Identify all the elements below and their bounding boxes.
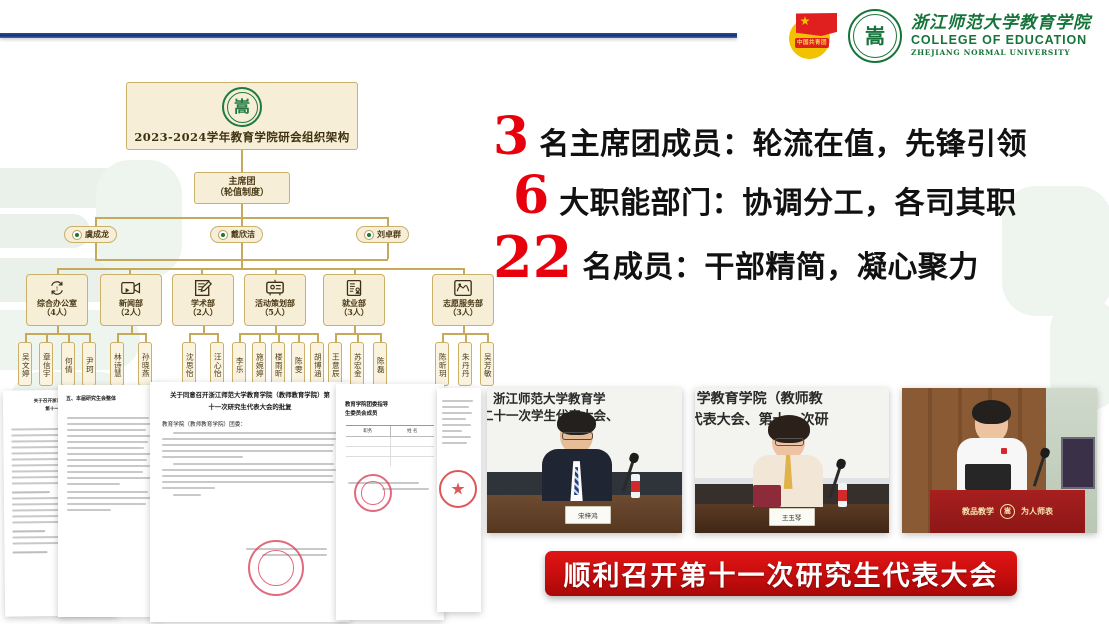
connector-d3-m1 — [189, 333, 191, 342]
member-chip: 朱丹丹 — [458, 342, 472, 386]
official-round-stamp-icon — [248, 540, 304, 596]
headline-row-2: 6 大职能部门：协调分工，各司其职 — [487, 171, 1097, 220]
photo1-speaker — [542, 415, 612, 501]
photo1-banner-line1: 浙江师范大学教育学 — [493, 391, 678, 407]
connector-d2-bus — [117, 333, 145, 335]
slide-canvas: 中国共青团 嵩 浙江师范大学教育学院 COLLEGE OF EDUCATION … — [0, 0, 1109, 624]
resume-document-icon — [344, 279, 364, 297]
headline-stats-block: 3 名主席团成员：轮流在值，先锋引领 6 大职能部门：协调分工，各司其职 22 … — [487, 112, 1097, 327]
photo3-badge-icon — [1001, 448, 1007, 454]
connector-d1-m4 — [89, 333, 91, 342]
photo1-nameplate: 宋梓鸿 — [565, 506, 611, 524]
document-center-title-line1: 关于同意召开浙江师范大学教育学院（教师教育学院）第 — [160, 391, 340, 400]
document-center-approval: 关于同意召开浙江师范大学教育学院（教师教育学院）第 十一次研究生代表大会的批复 … — [150, 382, 350, 622]
presidium-member-2: 戴欣洁 — [210, 226, 263, 243]
photo1-water-bottle — [631, 474, 640, 498]
connector-d1-m1 — [25, 333, 27, 342]
photo3-laptop — [965, 464, 1011, 490]
connector-d2-m1 — [117, 333, 119, 342]
conference-photo-strip: 浙江师范大学教育学 二十一次学生代表大会、 宋梓鸿 — [487, 388, 1097, 536]
headline-2-number: 6 — [513, 171, 549, 220]
department-3-count: （2人） — [188, 308, 218, 318]
connector-d4-m3 — [278, 333, 280, 342]
connector-d6-down — [463, 326, 465, 333]
document-right-title-line2: 生委员会成员 — [345, 409, 435, 417]
presidium-label-line1: 主席团 — [228, 177, 255, 188]
photo2-collar — [778, 455, 798, 489]
connector-pres1-down — [95, 243, 97, 259]
member-chip: 苏宏金 — [350, 342, 364, 386]
photo2-nameplate: 王玉琴 — [769, 508, 815, 526]
connector-d5-down — [354, 326, 356, 333]
member-chip: 林诗慧 — [110, 342, 124, 386]
pencil-paper-icon — [193, 279, 213, 297]
photo1-glasses-icon — [562, 432, 593, 440]
headline-2-text: 大职能部门：协调分工，各司其职 — [559, 188, 1017, 220]
photo1-head — [560, 415, 593, 453]
department-card-3: 学术部 （2人） — [172, 274, 234, 326]
department-1-count: （4人） — [42, 308, 72, 318]
connector-title-presidium — [241, 150, 243, 172]
org-chart-title: 2023-2024学年教育学院研会组织架构 — [134, 129, 349, 145]
flag-icon — [796, 13, 837, 36]
organization-chart: 嵩 2023-2024学年教育学院研会组织架构 主席团 （轮值制度） 虞成龙 戴… — [18, 76, 488, 381]
photo-male-speaker-podium-right: 教品教学 嵩 为人师表 — [902, 388, 1097, 533]
presidium-node: 主席团 （轮值制度） — [194, 172, 290, 204]
document-left-2-title: 五、本届研究生会整体 — [66, 395, 156, 402]
connector-d1-down — [57, 326, 59, 333]
photo2-folder — [753, 485, 781, 507]
document-center-title-line2: 十一次研究生代表大会的批复 — [160, 402, 340, 411]
connector-d2-down — [131, 326, 133, 333]
org-chart-title-card: 嵩 2023-2024学年教育学院研会组织架构 — [126, 82, 358, 150]
member-chip: 吴文婷 — [18, 342, 32, 386]
presidium-member-1: 虞成龙 — [64, 226, 117, 243]
department-2-count: （2人） — [116, 308, 146, 318]
connector-d3-bus — [189, 333, 217, 335]
header-divider-rule — [0, 33, 737, 38]
connector-d1-bus — [25, 333, 89, 335]
presidium-member-3-name: 刘卓群 — [377, 229, 401, 240]
department-card-5: 就业部 （3人） — [323, 274, 385, 326]
member-chip: 孙晓燕 — [138, 342, 152, 386]
connector-d6-m1 — [442, 333, 444, 342]
volunteer-hands-icon — [453, 279, 473, 297]
document-center-body — [162, 432, 338, 500]
connector-d3-down — [203, 326, 205, 333]
document-left-2-body — [67, 417, 155, 515]
member-chip: 章信宇 — [39, 342, 53, 386]
headline-row-3: 22 名成员：干部精简，凝心聚力 — [487, 231, 1097, 285]
university-seal-glyph: 嵩 — [865, 26, 885, 46]
documents-collage: 关于召开浙江师范大学教 第十一次研究 五、本届研究生会整体 — [0, 382, 480, 624]
document-center-body-lead: 教育学院（教师教育学院）团委： — [162, 420, 338, 428]
connector-d4-m2 — [259, 333, 261, 342]
headline-3-text: 名成员：干部精简，凝心聚力 — [582, 252, 979, 284]
photo3-podium-seal-icon: 嵩 — [1000, 504, 1015, 519]
connector-d5-m2 — [357, 333, 359, 342]
member-chip: 李乐 — [232, 342, 246, 386]
document-right-roster: 教育学院团委指导 生委员会成员 职务 姓 名 — [336, 384, 444, 620]
bullet-dot-icon — [218, 230, 228, 240]
connector-d5-m3 — [380, 333, 382, 342]
bullet-dot-icon — [364, 230, 374, 240]
member-chip: 汪心怡 — [210, 342, 224, 386]
league-band-text: 中国共青团 — [795, 38, 829, 48]
member-chip: 陈昕玥 — [435, 342, 449, 386]
connector-d6-m2 — [465, 333, 467, 342]
document-right-table: 职务 姓 名 — [346, 425, 434, 466]
connector-pres-3 — [387, 217, 389, 226]
svg-text:1: 1 — [55, 286, 58, 292]
org-title-seal-icon: 嵩 — [222, 87, 262, 127]
department-6-count: （3人） — [448, 308, 478, 318]
member-chip: 陈磊 — [373, 342, 387, 386]
connector-d3-m2 — [217, 333, 219, 342]
conference-ribbon-banner: 顺利召开第十一次研究生代表大会 — [545, 551, 1017, 596]
college-name-en: COLLEGE OF EDUCATION — [911, 34, 1091, 48]
refresh-cycle-icon: 1 — [47, 279, 67, 297]
connector-d4-m1 — [239, 333, 241, 342]
red-round-stamp-icon — [354, 474, 392, 512]
department-card-6: 志愿服务部 （3人） — [432, 274, 494, 326]
member-chip: 陈雯 — [291, 342, 305, 386]
connector-pres-1 — [95, 217, 97, 226]
connector-pres-bottom-bus — [95, 259, 388, 261]
document-edge-fragment — [437, 388, 481, 612]
department-card-1: 1 综合办公室 （4人） — [26, 274, 88, 326]
league-band: 中国共青团 — [795, 38, 829, 48]
connector-d4-m5 — [317, 333, 319, 342]
presidium-member-2-name: 戴欣洁 — [231, 229, 255, 240]
connector-d4-m4 — [298, 333, 300, 342]
org-title-seal-glyph: 嵩 — [234, 99, 250, 115]
photo1-suit — [542, 449, 612, 501]
university-name-cn: 浙江师范大学教育学院 — [911, 15, 1091, 33]
document-left-2: 五、本届研究生会整体 — [58, 385, 164, 617]
document-right-col1: 职务 — [346, 426, 391, 436]
member-chip: 楼雨昕 — [271, 342, 285, 386]
member-chip: 何倩 — [61, 342, 75, 386]
member-chip: 胡博涵 — [310, 342, 324, 386]
photo3-podium: 教品教学 嵩 为人师表 — [930, 490, 1086, 534]
photo2-glasses-icon — [775, 438, 804, 446]
university-name-en: ZHEJIANG NORMAL UNIVERSITY — [911, 49, 1091, 57]
bullet-dot-icon — [72, 230, 82, 240]
document-right-col2: 姓 名 — [391, 426, 435, 436]
headline-row-1: 3 名主席团成员：轮流在值，先锋引领 — [487, 112, 1097, 161]
brand-logo-group: 中国共青团 嵩 浙江师范大学教育学院 COLLEGE OF EDUCATION … — [787, 8, 1091, 64]
department-card-2: 新闻部 （2人） — [100, 274, 162, 326]
photo3-display-screen — [1061, 437, 1095, 489]
connector-d6-m3 — [487, 333, 489, 342]
connector-d4-down — [275, 326, 277, 333]
department-card-4: 活动策划部 （5人） — [244, 274, 306, 326]
presidium-member-3: 刘卓群 — [356, 226, 409, 243]
headline-3-number: 22 — [493, 231, 572, 285]
connector-d5-m1 — [335, 333, 337, 342]
photo3-podium-left-text: 教品教学 — [962, 506, 994, 517]
member-chip: 吴芳敏 — [480, 342, 494, 386]
headline-1-text: 名主席团成员：轮流在值，先锋引领 — [539, 129, 1027, 161]
document-right-title-line1: 教育学院团委指导 — [345, 400, 435, 408]
headline-1-number: 3 — [493, 112, 529, 161]
university-seal-icon: 嵩 — [848, 9, 902, 63]
party-emblem-stamp-icon — [439, 470, 477, 508]
connector-presidium-down — [241, 204, 243, 218]
photo3-podium-right-text: 为人师表 — [1021, 506, 1053, 517]
photo2-water-bottle — [838, 483, 847, 507]
connector-d2-m2 — [145, 333, 147, 342]
member-chip: 王意辰 — [328, 342, 342, 386]
photo-female-speaker-center: 学教育学院（教师教 代表大会、第十一次研 王玉琴 — [695, 388, 890, 533]
photo-male-speaker-left: 浙江师范大学教育学 二十一次学生代表大会、 宋梓鸿 — [487, 388, 682, 533]
photo2-banner-line1: 学教育学院（教师教 — [697, 391, 886, 409]
connector-pres-2 — [241, 217, 243, 226]
member-chip: 施婉婷 — [252, 342, 266, 386]
connector-pres3-down — [387, 243, 389, 259]
hammer-sickle-star-icon — [451, 482, 465, 496]
photo2-head — [772, 421, 805, 459]
presidium-member-1-name: 虞成龙 — [85, 229, 109, 240]
member-chip: 沈思怡 — [182, 342, 196, 386]
university-wordmark: 浙江师范大学教育学院 COLLEGE OF EDUCATION ZHEJIANG… — [911, 15, 1091, 57]
presidium-label-line2: （轮值制度） — [215, 188, 269, 199]
presentation-board-icon — [265, 279, 285, 297]
connector-dept-bus — [57, 268, 463, 270]
ribbon-text: 顺利召开第十一次研究生代表大会 — [564, 554, 999, 593]
department-4-count: （5人） — [260, 308, 290, 318]
department-5-count: （3人） — [339, 308, 369, 318]
document-edge-body — [442, 400, 476, 448]
connector-pres2-down — [241, 243, 243, 268]
connector-d1-m3 — [68, 333, 70, 342]
photo3-head — [975, 404, 1008, 442]
member-chip: 尹珂 — [82, 342, 96, 386]
connector-d1-m2 — [46, 333, 48, 342]
photo3-hair — [972, 400, 1011, 424]
communist-youth-league-emblem-icon: 中国共青团 — [787, 11, 839, 61]
video-camera-icon — [121, 279, 141, 297]
